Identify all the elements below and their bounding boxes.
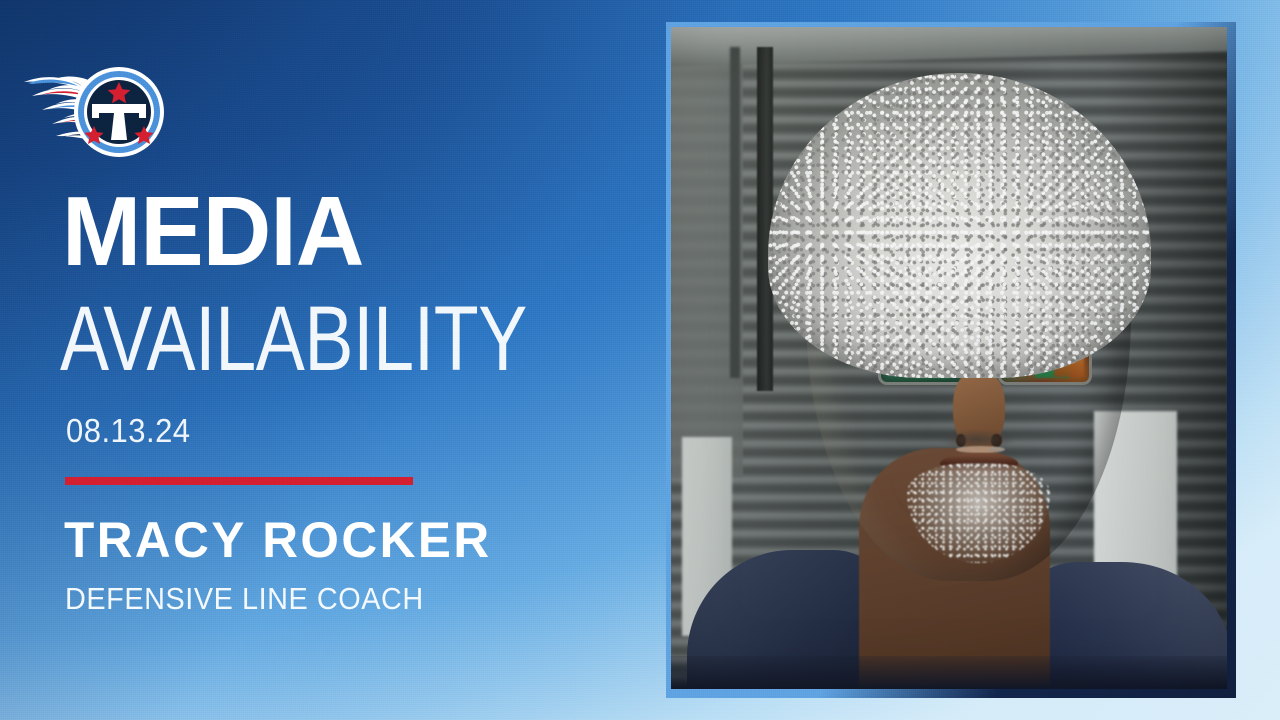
- person-name: TRACY ROCKER: [64, 511, 492, 569]
- media-availability-graphic: MEDIA AVAILABILITY 08.13.24 TRACY ROCKER…: [0, 0, 1280, 720]
- red-divider: [65, 477, 413, 485]
- hoodie-bottom-shadow: [671, 656, 1227, 689]
- photo-frame: [666, 22, 1236, 698]
- subject-photo: [671, 27, 1227, 689]
- tennessee-titans-logo-icon: [22, 52, 172, 164]
- hair-texture: [768, 73, 1151, 378]
- left-text-panel: MEDIA AVAILABILITY 08.13.24 TRACY ROCKER…: [0, 0, 660, 720]
- beard: [907, 463, 1050, 564]
- beard-texture: [907, 463, 1050, 564]
- date-label: 08.13.24: [66, 412, 191, 450]
- person-role: DEFENSIVE LINE COACH: [65, 581, 424, 617]
- headline-media: MEDIA: [62, 186, 363, 276]
- headline-availability: AVAILABILITY: [60, 296, 527, 383]
- subject-head: [715, 67, 1193, 689]
- hair: [768, 73, 1151, 378]
